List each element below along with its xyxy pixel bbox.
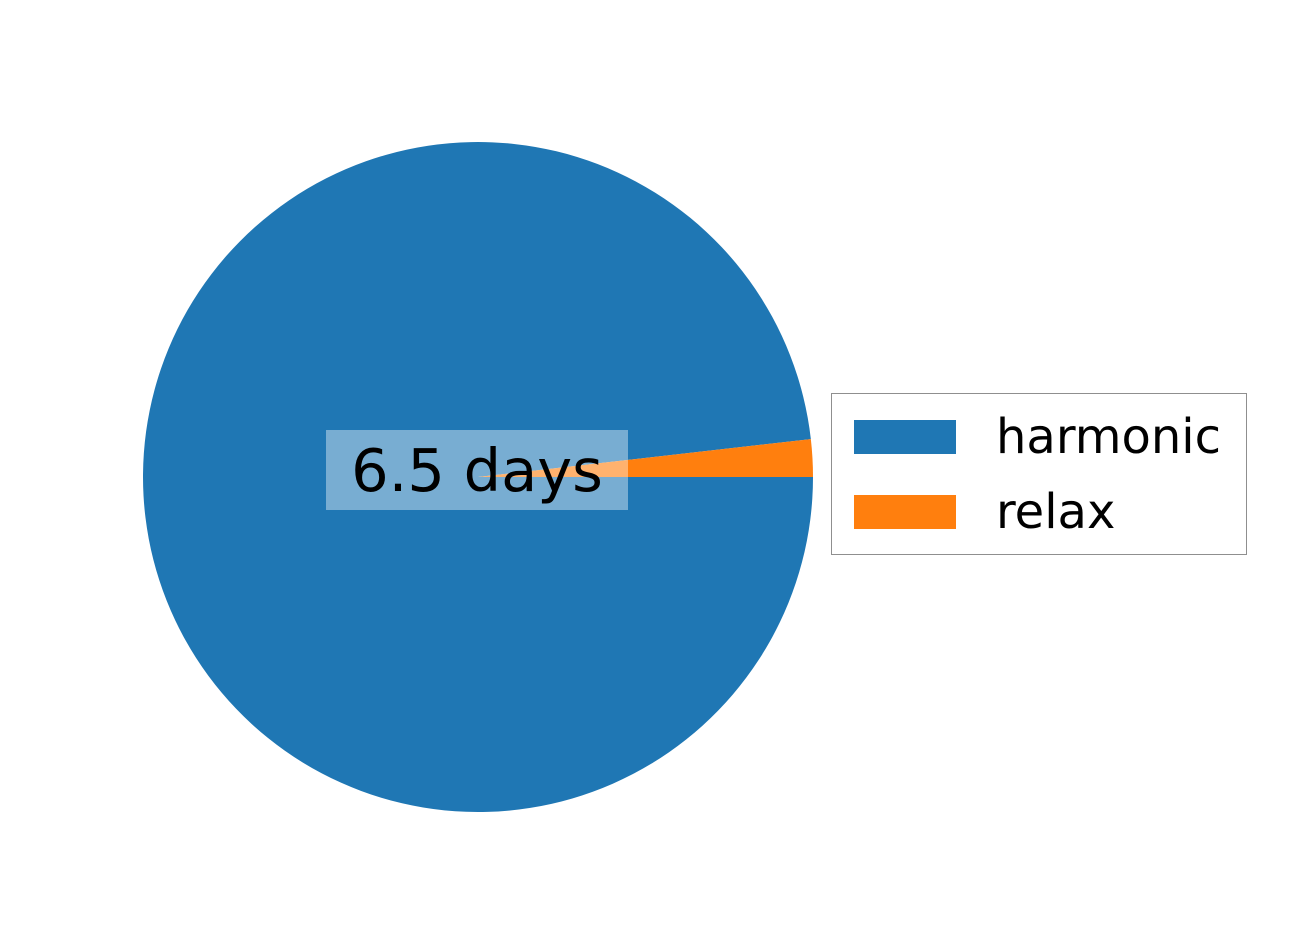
legend-item-harmonic[interactable]: harmonic — [832, 416, 1246, 458]
pie-chart-figure: 6.5 days harmonic relax — [0, 0, 1307, 951]
legend-label-relax: relax — [996, 488, 1115, 536]
legend: harmonic relax — [831, 393, 1247, 555]
legend-item-relax[interactable]: relax — [832, 491, 1246, 533]
legend-swatch-harmonic — [854, 420, 956, 454]
legend-label-harmonic: harmonic — [996, 413, 1221, 461]
legend-swatch-relax — [854, 495, 956, 529]
